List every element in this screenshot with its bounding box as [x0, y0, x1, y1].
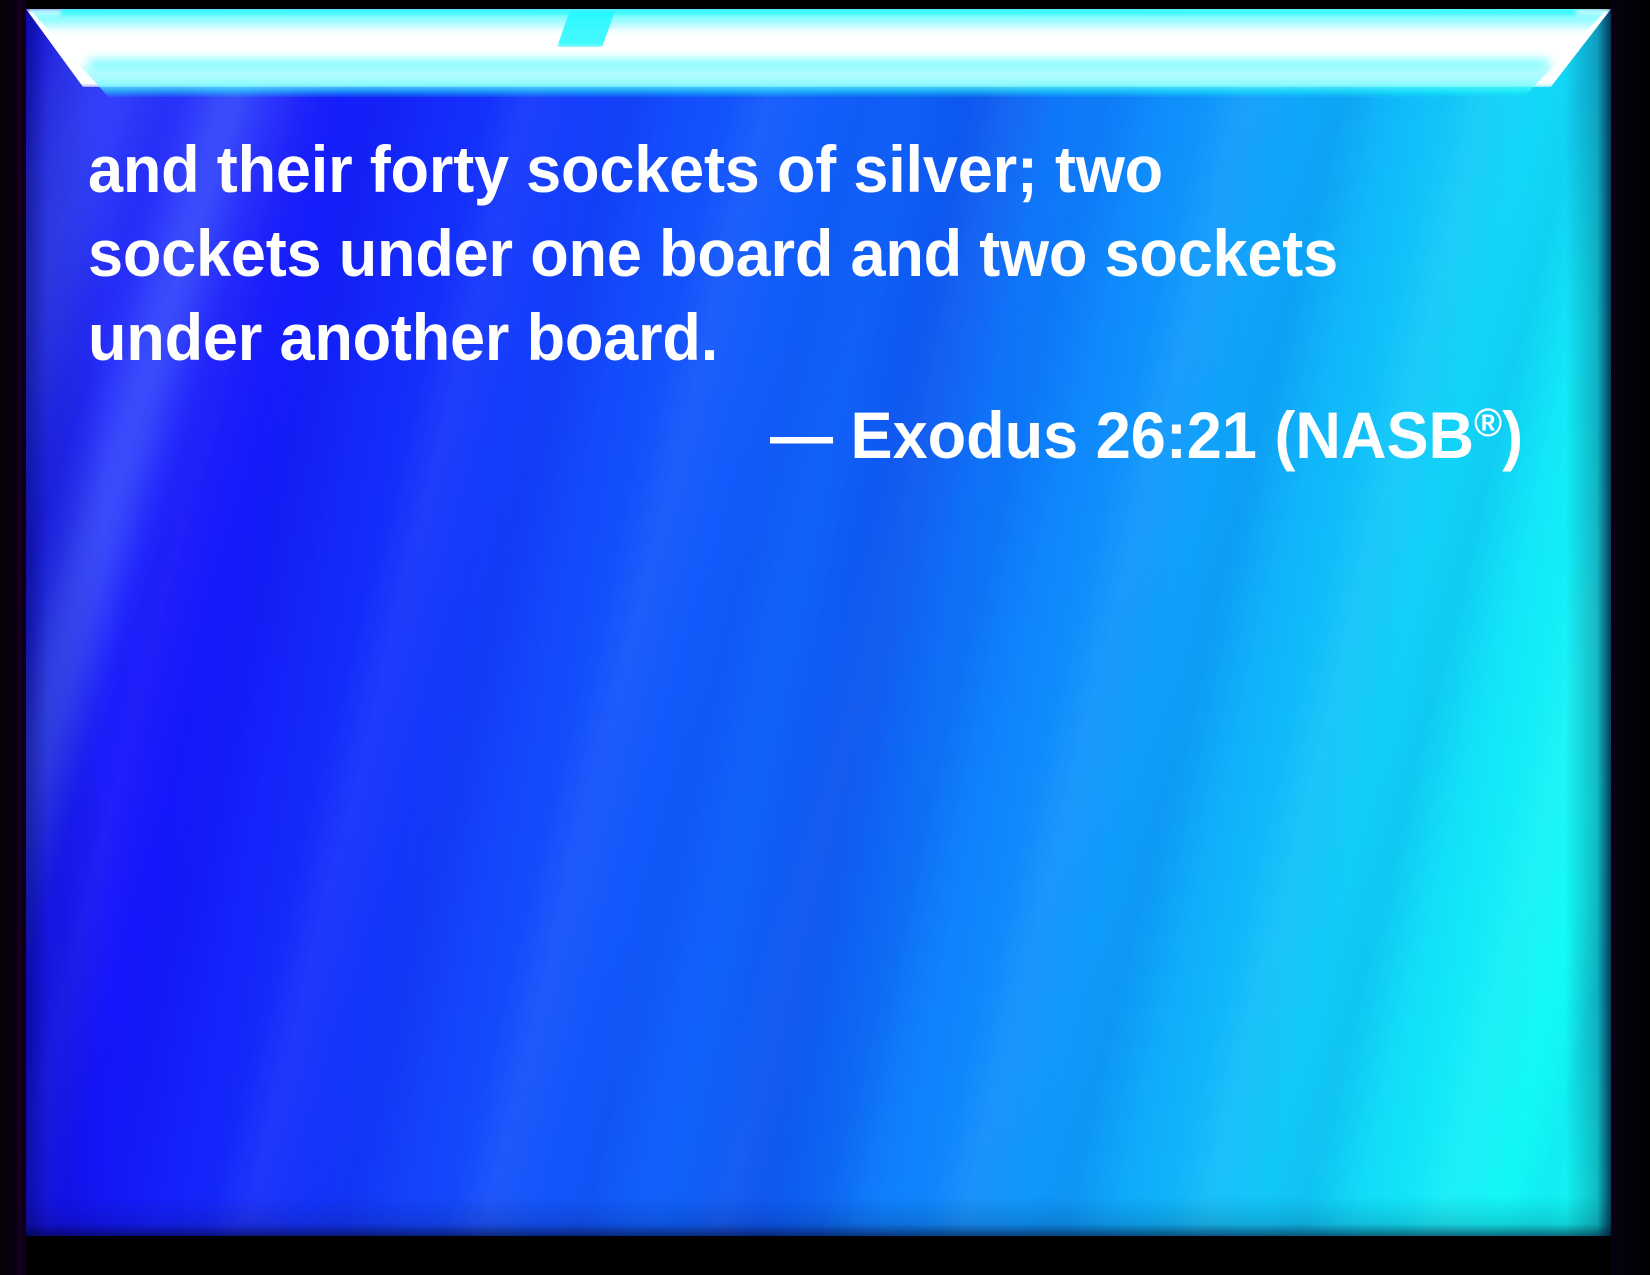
frame-border-right: [1611, 0, 1650, 1275]
verse-line-3: under another board.: [88, 295, 1462, 379]
frame-border-top: [0, 0, 1650, 9]
verse-reference-translation-open: (NASB: [1257, 398, 1474, 472]
slide-artwork-canvas: and their forty sockets of silver; two s…: [26, 9, 1611, 1236]
verse-reference-book: Exodus: [851, 398, 1079, 472]
verse-text-block: and their forty sockets of silver; two s…: [26, 9, 1611, 477]
verse-reference-dash: —: [770, 398, 851, 472]
registered-trademark-icon: ®: [1474, 401, 1502, 445]
frame-border-left: [0, 0, 26, 1275]
verse-line-2: sockets under one board and two sockets: [88, 211, 1462, 295]
verse-reference-translation-close: ): [1502, 398, 1523, 472]
verse-line-1: and their forty sockets of silver; two: [88, 127, 1462, 211]
verse-reference-chapter-verse: 26:21: [1096, 398, 1257, 472]
verse-reference: — Exodus 26:21 (NASB®): [153, 393, 1527, 477]
frame-border-bottom: [0, 1236, 1650, 1275]
verse-slide: and their forty sockets of silver; two s…: [0, 0, 1650, 1275]
